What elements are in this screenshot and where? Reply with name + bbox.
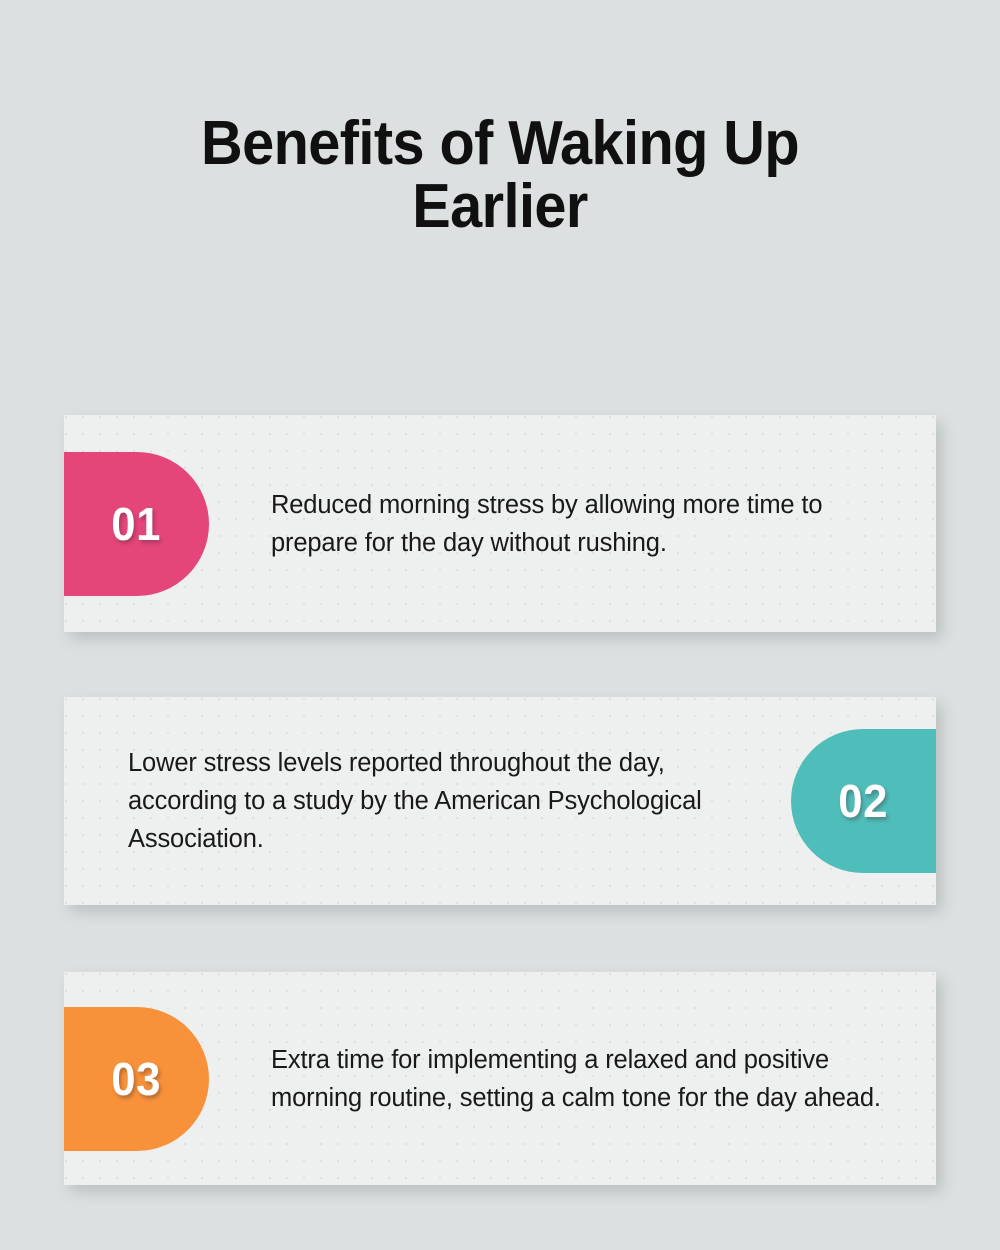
benefit-description: Extra time for implementing a relaxed an… — [209, 1041, 936, 1117]
number-badge: 03 — [64, 1007, 209, 1151]
number-badge: 02 — [791, 729, 936, 873]
number-badge: 01 — [64, 452, 209, 596]
benefit-card: 02 Lower stress levels reported througho… — [64, 697, 936, 905]
card-content: 01 Reduced morning stress by allowing mo… — [64, 415, 936, 632]
benefit-card: 01 Reduced morning stress by allowing mo… — [64, 415, 936, 632]
page-title-block: Benefits of Waking Up Earlier — [100, 112, 900, 238]
page-title: Benefits of Waking Up Earlier — [128, 112, 872, 238]
badge-number: 01 — [112, 497, 162, 551]
card-content: 03 Extra time for implementing a relaxed… — [64, 972, 936, 1185]
benefit-description: Reduced morning stress by allowing more … — [209, 486, 936, 562]
card-content: 02 Lower stress levels reported througho… — [64, 697, 936, 905]
badge-number: 02 — [839, 774, 889, 828]
benefit-description: Lower stress levels reported throughout … — [64, 744, 791, 858]
benefit-card: 03 Extra time for implementing a relaxed… — [64, 972, 936, 1185]
badge-number: 03 — [112, 1052, 162, 1106]
